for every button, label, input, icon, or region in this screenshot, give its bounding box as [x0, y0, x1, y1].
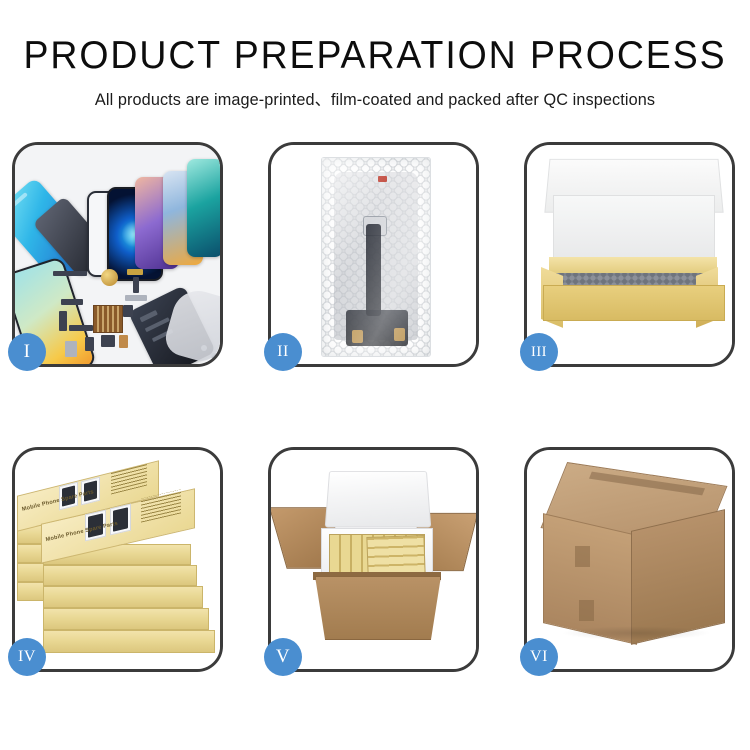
step-badge-2: II: [264, 333, 302, 371]
step-badge-5: V: [264, 638, 302, 676]
step-badge-6: VI: [520, 638, 558, 676]
step-panel-6[interactable]: VI: [524, 447, 735, 672]
small-part: [59, 311, 67, 331]
small-part: [125, 295, 147, 301]
step-badge-4: IV: [8, 638, 46, 676]
stacked-boxes-scene: Mobile Phone Spare Parts Mobile Phone Sp…: [15, 450, 220, 669]
page-subtitle: All products are image-printed、film-coat…: [6, 86, 745, 110]
carton-tab: [575, 546, 590, 567]
carton-front-panel: [315, 576, 441, 640]
carton-tab: [579, 600, 594, 621]
step-image-2: [271, 145, 476, 364]
step-image-4: Mobile Phone Spare Parts Mobile Phone Sp…: [15, 450, 220, 669]
step-panel-4[interactable]: Mobile Phone Spare Parts Mobile Phone Sp…: [12, 447, 223, 672]
small-part: [61, 299, 83, 305]
chip-array-part: [93, 305, 123, 333]
carton-with-foam-scene: [271, 450, 476, 669]
small-part: [53, 271, 87, 276]
page-title: PRODUCT PREPARATION PROCESS: [15, 34, 735, 78]
carton-shadow: [561, 626, 711, 640]
stacked-box: [43, 565, 197, 586]
step-badge-3: III: [520, 333, 558, 371]
box-tray-front: [543, 285, 725, 321]
small-part: [85, 337, 94, 351]
step-image-5: [271, 450, 476, 669]
small-part: [101, 335, 115, 347]
step-panel-5[interactable]: V: [268, 447, 479, 672]
gold-boxes-inside: [366, 535, 425, 575]
step-image-3: [527, 145, 732, 364]
page-header: PRODUCT PREPARATION PROCESS All products…: [0, 0, 750, 110]
small-part: [133, 277, 139, 293]
sealed-carton-scene: [527, 450, 732, 669]
bubble-wrap-scene: [271, 145, 476, 364]
step-image-6: [527, 450, 732, 669]
step-panel-3[interactable]: III: [524, 142, 735, 367]
phone-parts-scene: [15, 145, 220, 364]
small-part: [127, 269, 143, 275]
teal-gradient-phone: [187, 159, 220, 257]
carton-right-face: [631, 509, 725, 645]
step-panel-2[interactable]: II: [268, 142, 479, 367]
process-step-grid: I II: [12, 142, 738, 672]
stacked-box: [43, 586, 203, 608]
gold-coin-part: [101, 269, 118, 286]
small-part: [65, 341, 77, 357]
open-gold-box-scene: [527, 145, 732, 364]
step-badge-1: I: [8, 333, 46, 371]
foam-box-lid: [325, 471, 432, 527]
small-part: [119, 335, 128, 348]
step-panel-1[interactable]: I: [12, 142, 223, 367]
small-part: [69, 325, 93, 331]
box-tray-rim: [549, 257, 717, 273]
step-image-1: [15, 145, 220, 364]
small-part: [123, 305, 133, 317]
housing-detail: [145, 317, 170, 332]
bubble-wrap-bag: [321, 157, 431, 357]
stacked-box: [43, 630, 215, 653]
stacked-box: [43, 608, 209, 630]
bag-sheen: [322, 158, 430, 356]
phone-notch: [15, 192, 28, 208]
box-print-phone-image: [110, 504, 131, 536]
housing-detail: [139, 310, 157, 322]
